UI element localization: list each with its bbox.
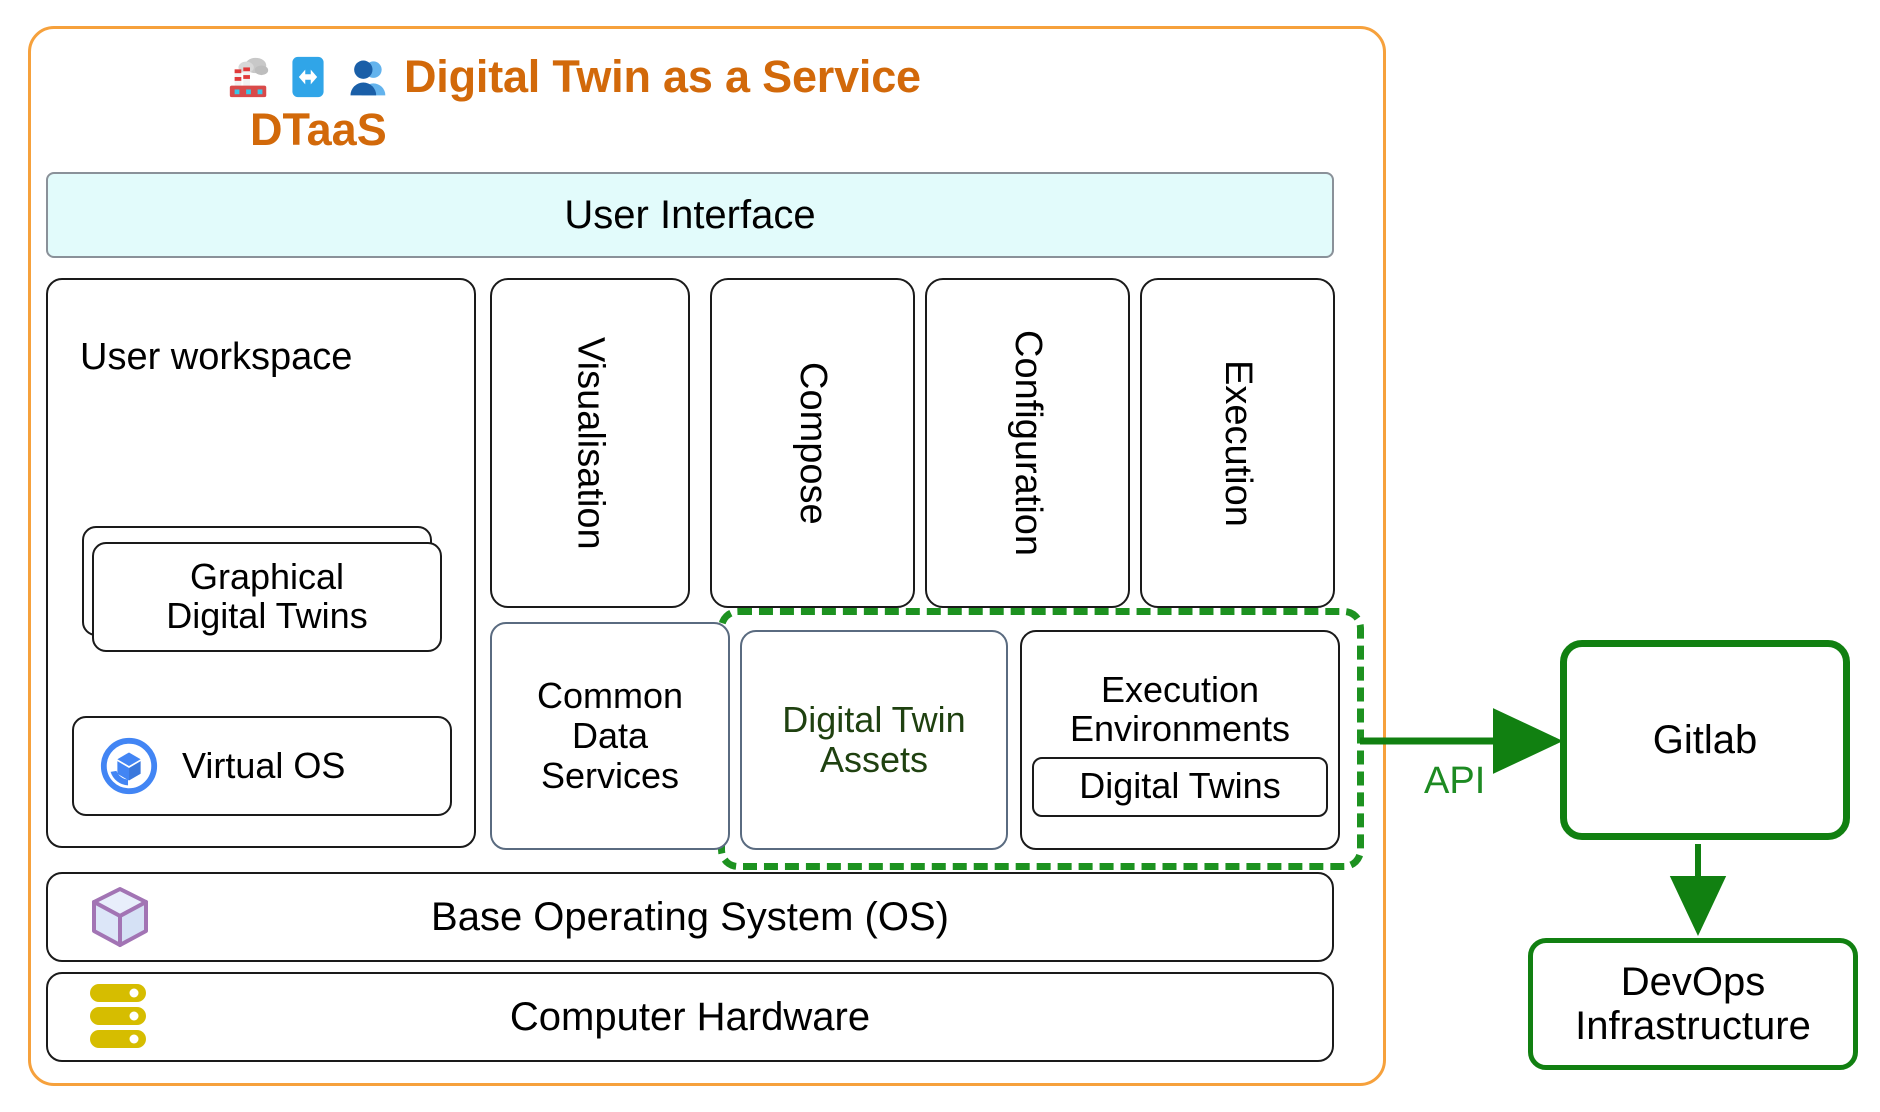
user-workspace-label: User workspace [80, 336, 440, 379]
api-connector-label: API [1424, 760, 1544, 803]
gitlab-box: Gitlab [1560, 640, 1850, 840]
virtual-os-label: Virtual OS [182, 745, 345, 787]
common-data-services-box: Common Data Services [490, 622, 730, 850]
module-visualisation: Visualisation [490, 278, 690, 608]
diagram-title-row: Digital Twin as a Service [226, 46, 1226, 108]
devops-infrastructure-line1: DevOps [1621, 960, 1766, 1004]
execution-environments-title: Execution Environments [1022, 671, 1338, 749]
module-visualisation-label: Visualisation [569, 337, 612, 550]
virtual-os-box: Virtual OS [72, 716, 452, 816]
layer-user-interface-label: User Interface [564, 193, 815, 238]
gitlab-label: Gitlab [1653, 718, 1758, 763]
module-configuration: Configuration [925, 278, 1130, 608]
digital-twins-inner-box: Digital Twins [1032, 757, 1328, 817]
common-data-services-line2: Data [572, 716, 648, 756]
execution-environments-line2: Environments [1022, 710, 1338, 749]
module-execution: Execution [1140, 278, 1335, 608]
module-compose: Compose [710, 278, 915, 608]
module-configuration-label: Configuration [1006, 330, 1049, 556]
graphical-digital-twins-line2: Digital Twins [166, 597, 367, 636]
factory-icon [226, 54, 272, 100]
page-title: Digital Twin as a Service [404, 51, 921, 103]
layer-computer-hardware: Computer Hardware [46, 972, 1334, 1062]
server-stack-icon [84, 980, 156, 1054]
page-subtitle: DTaaS [250, 104, 650, 156]
digital-twin-assets-line1: Digital Twin [782, 700, 965, 740]
common-data-services-line3: Services [541, 756, 679, 796]
digital-twins-inner-label: Digital Twins [1079, 767, 1280, 806]
people-icon [344, 55, 390, 99]
common-data-services-line1: Common [537, 676, 683, 716]
execution-environments-line1: Execution [1022, 671, 1338, 710]
graphical-digital-twins-box: Graphical Digital Twins [92, 542, 442, 652]
left-right-arrow-icon [286, 55, 330, 99]
digital-twin-assets-line2: Assets [820, 740, 928, 780]
digital-twin-assets-box: Digital Twin Assets [740, 630, 1008, 850]
virtual-machine-icon [98, 735, 160, 797]
layer-computer-hardware-label: Computer Hardware [510, 995, 870, 1040]
devops-infrastructure-box: DevOps Infrastructure [1528, 938, 1858, 1070]
module-execution-label: Execution [1216, 360, 1259, 527]
cube-icon [84, 881, 156, 953]
devops-infrastructure-line2: Infrastructure [1575, 1004, 1811, 1048]
layer-user-interface: User Interface [46, 172, 1334, 258]
layer-base-operating-system: Base Operating System (OS) [46, 872, 1334, 962]
execution-environments-box: Execution Environments Digital Twins [1020, 630, 1340, 850]
graphical-digital-twins-line1: Graphical [190, 558, 344, 597]
layer-base-operating-system-label: Base Operating System (OS) [431, 895, 949, 940]
module-compose-label: Compose [791, 362, 834, 525]
